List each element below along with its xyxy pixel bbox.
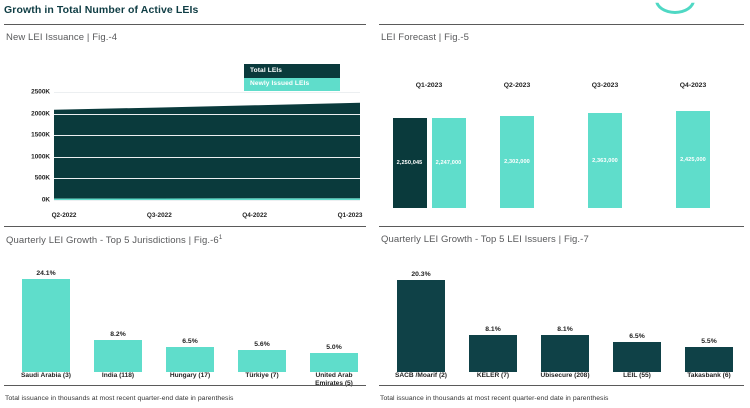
panel-divider — [4, 226, 366, 227]
panel-divider — [379, 226, 744, 227]
y-axis-tick: 1000K — [31, 153, 50, 160]
report-page: Growth in Total Number of Active LEIs Ne… — [0, 0, 750, 408]
forecast-group: Q1-20232,250,0452,247,000 — [385, 82, 473, 208]
forecast-bar-value: 2,425,000 — [680, 157, 706, 163]
column-category-label: India (118) — [88, 372, 148, 380]
forecast-group-label: Q3-2023 — [592, 82, 618, 89]
x-axis-tick: Q3-2022 — [147, 212, 172, 219]
column-category-label: Saudi Arabia (3) — [16, 372, 76, 380]
forecast-group: Q4-20232,425,000 — [649, 82, 737, 208]
forecast-bar-value: 2,363,000 — [592, 158, 618, 164]
column-category-label: LEIL (55) — [607, 372, 667, 380]
forecast-group-label: Q4-2023 — [680, 82, 706, 89]
column-item: 6.5% — [613, 272, 661, 372]
column-item: 5.5% — [685, 272, 733, 372]
column-item: 8.2% — [94, 272, 142, 372]
footnote-divider — [4, 385, 366, 386]
jurisdiction-bar — [94, 340, 142, 372]
panel-title-jurisdictions-text: Quarterly LEI Growth - Top 5 Jurisdictio… — [6, 235, 219, 246]
panel-title-jurisdictions: Quarterly LEI Growth - Top 5 Jurisdictio… — [6, 234, 223, 246]
panel-top-jurisdictions: Quarterly LEI Growth - Top 5 Jurisdictio… — [0, 226, 372, 408]
column-category-label: Takasbank (6) — [679, 372, 739, 380]
y-axis-tick: 2500K — [31, 89, 50, 96]
page-title: Growth in Total Number of Active LEIs — [4, 4, 198, 16]
panel-title-new-issuance: New LEI Issuance | Fig.-4 — [6, 32, 117, 43]
issuer-bar — [613, 342, 661, 372]
forecast-bar-value: 2,302,000 — [504, 159, 530, 165]
column-category-label: SACB /Moarif (2) — [391, 372, 451, 380]
issuer-bar — [469, 335, 517, 372]
gridline — [54, 92, 360, 93]
panel-title-issuers: Quarterly LEI Growth - Top 5 LEI Issuers… — [381, 234, 589, 245]
footnote-issuers: Total issuance in thousands at most rece… — [380, 395, 609, 402]
forecast-bar-forecasted: 2,363,000 — [588, 113, 622, 208]
jurisdiction-bar — [22, 279, 70, 372]
forecast-bar-forecasted: 2,302,000 — [500, 116, 534, 208]
issuer-bar — [541, 335, 589, 372]
column-item: 20.3% — [397, 272, 445, 372]
forecast-bar-value: 2,250,045 — [397, 160, 423, 166]
column-value-label: 24.1% — [36, 270, 55, 277]
panel-divider — [379, 24, 744, 25]
column-item: 8.1% — [541, 272, 589, 372]
column-category-label: Hungary (17) — [160, 372, 220, 380]
y-axis-tick: 2000K — [31, 110, 50, 117]
forecast-bar-forecasted: 2,425,000 — [676, 111, 710, 208]
y-axis-labels: 0K500K1000K1500K2000K2500K — [8, 92, 52, 200]
teal-arc-logo-icon — [655, 0, 695, 14]
area-chart-new-issuance: 0K500K1000K1500K2000K2500K Q2-2022Q3-202… — [8, 72, 364, 222]
forecast-group: Q3-20232,363,000 — [561, 82, 649, 208]
column-value-label: 8.1% — [485, 326, 501, 333]
panel-title-superscript: 1 — [219, 234, 223, 241]
column-category-label: KELER (7) — [463, 372, 523, 380]
x-axis-tick: Q2-2022 — [52, 212, 77, 219]
column-category-label: Ubisecure (208) — [535, 372, 595, 380]
gridline — [54, 200, 360, 201]
gridline — [54, 157, 360, 158]
forecast-group-label: Q2-2023 — [504, 82, 530, 89]
area-total-leis — [54, 103, 360, 199]
gridline — [54, 135, 360, 136]
bar-chart-jurisdictions: 24.1%8.2%6.5%5.6%5.0% — [6, 256, 366, 372]
panel-top-issuers: Quarterly LEI Growth - Top 5 LEI Issuers… — [375, 226, 750, 408]
column-item: 24.1% — [22, 272, 70, 372]
issuer-bar — [685, 347, 733, 372]
forecast-group-label: Q1-2023 — [416, 82, 442, 89]
y-axis-tick: 0K — [42, 197, 50, 204]
column-value-label: 6.5% — [629, 333, 645, 340]
column-item: 5.0% — [310, 272, 358, 372]
x-axis-tick: Q1-2023 — [338, 212, 363, 219]
jurisdiction-bar — [238, 350, 286, 372]
column-item: 8.1% — [469, 272, 517, 372]
footnote-divider — [379, 385, 744, 386]
column-value-label: 5.0% — [326, 344, 342, 351]
jurisdiction-bar — [310, 353, 358, 372]
panel-new-lei-issuance: New LEI Issuance | Fig.-4 Total LEIs New… — [0, 24, 372, 224]
forecast-group: Q2-20232,302,000 — [473, 82, 561, 208]
column-item: 5.6% — [238, 272, 286, 372]
column-value-label: 8.2% — [110, 331, 126, 338]
forecast-bar-actual: 2,250,045 — [393, 118, 427, 208]
forecast-bar-forecasted: 2,247,000 — [432, 118, 466, 208]
column-value-label: 20.3% — [411, 271, 430, 278]
column-category-label: Türkiye (7) — [232, 372, 292, 380]
jurisdiction-bar — [166, 347, 214, 372]
y-axis-tick: 500K — [35, 175, 50, 182]
gridline — [54, 178, 360, 179]
y-axis-tick: 1500K — [31, 132, 50, 139]
column-item: 6.5% — [166, 272, 214, 372]
column-value-label: 6.5% — [182, 338, 198, 345]
forecast-bar-value: 2,247,000 — [436, 160, 462, 166]
gridline — [54, 114, 360, 115]
panel-divider — [4, 24, 366, 25]
area-plot-region — [54, 86, 360, 206]
footnote-jurisdictions: Total issuance in thousands at most rece… — [5, 395, 234, 402]
panel-title-forecast: LEI Forecast | Fig.-5 — [381, 32, 469, 43]
bar-chart-forecast: Q1-20232,250,0452,247,000Q2-20232,302,00… — [385, 82, 742, 218]
panel-lei-forecast: LEI Forecast | Fig.-5 Actual Active LEIs… — [375, 24, 750, 224]
area-series-svg — [54, 86, 360, 206]
x-axis-tick: Q4-2022 — [242, 212, 267, 219]
column-value-label: 8.1% — [557, 326, 573, 333]
column-value-label: 5.6% — [254, 341, 270, 348]
bar-chart-issuers: 20.3%8.1%8.1%6.5%5.5% — [381, 256, 744, 372]
issuer-bar — [397, 280, 445, 372]
x-axis-labels: Q2-2022Q3-2022Q4-2022Q1-2023 — [54, 212, 360, 226]
column-value-label: 5.5% — [701, 338, 717, 345]
